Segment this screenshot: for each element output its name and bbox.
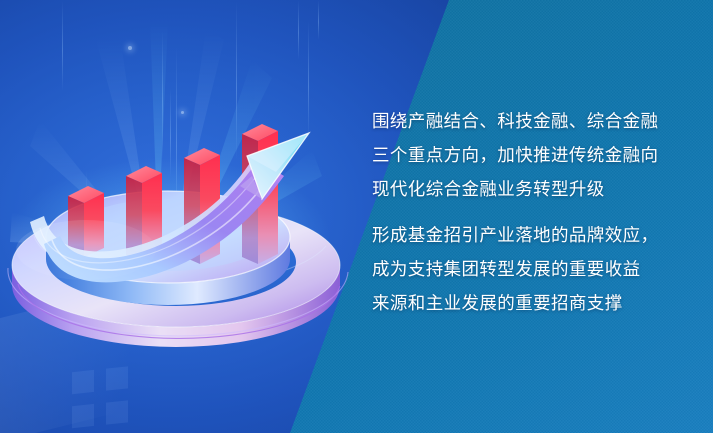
copy-block: 围绕产融结合、科技金融、综合金融 三个重点方向，加快推进传统金融向 现代化综合金… bbox=[372, 104, 684, 320]
paragraph-one-line-1: 围绕产融结合、科技金融、综合金融 bbox=[372, 104, 684, 138]
paragraph-one: 围绕产融结合、科技金融、综合金融 三个重点方向，加快推进传统金融向 现代化综合金… bbox=[372, 104, 684, 206]
growth-chart-illustration bbox=[0, 0, 360, 433]
paragraph-one-line-2: 三个重点方向，加快推进传统金融向 bbox=[372, 138, 684, 172]
paragraph-two-line-1: 形成基金招引产业落地的品牌效应， bbox=[372, 218, 684, 252]
paragraph-two: 形成基金招引产业落地的品牌效应， 成为支持集团转型发展的重要收益 来源和主业发展… bbox=[372, 218, 684, 320]
paragraph-two-line-3: 来源和主业发展的重要招商支撑 bbox=[372, 286, 684, 320]
banner-slide: 围绕产融结合、科技金融、综合金融 三个重点方向，加快推进传统金融向 现代化综合金… bbox=[0, 0, 713, 433]
paragraph-one-line-3: 现代化综合金融业务转型升级 bbox=[372, 172, 684, 206]
paragraph-two-line-2: 成为支持集团转型发展的重要收益 bbox=[372, 252, 684, 286]
